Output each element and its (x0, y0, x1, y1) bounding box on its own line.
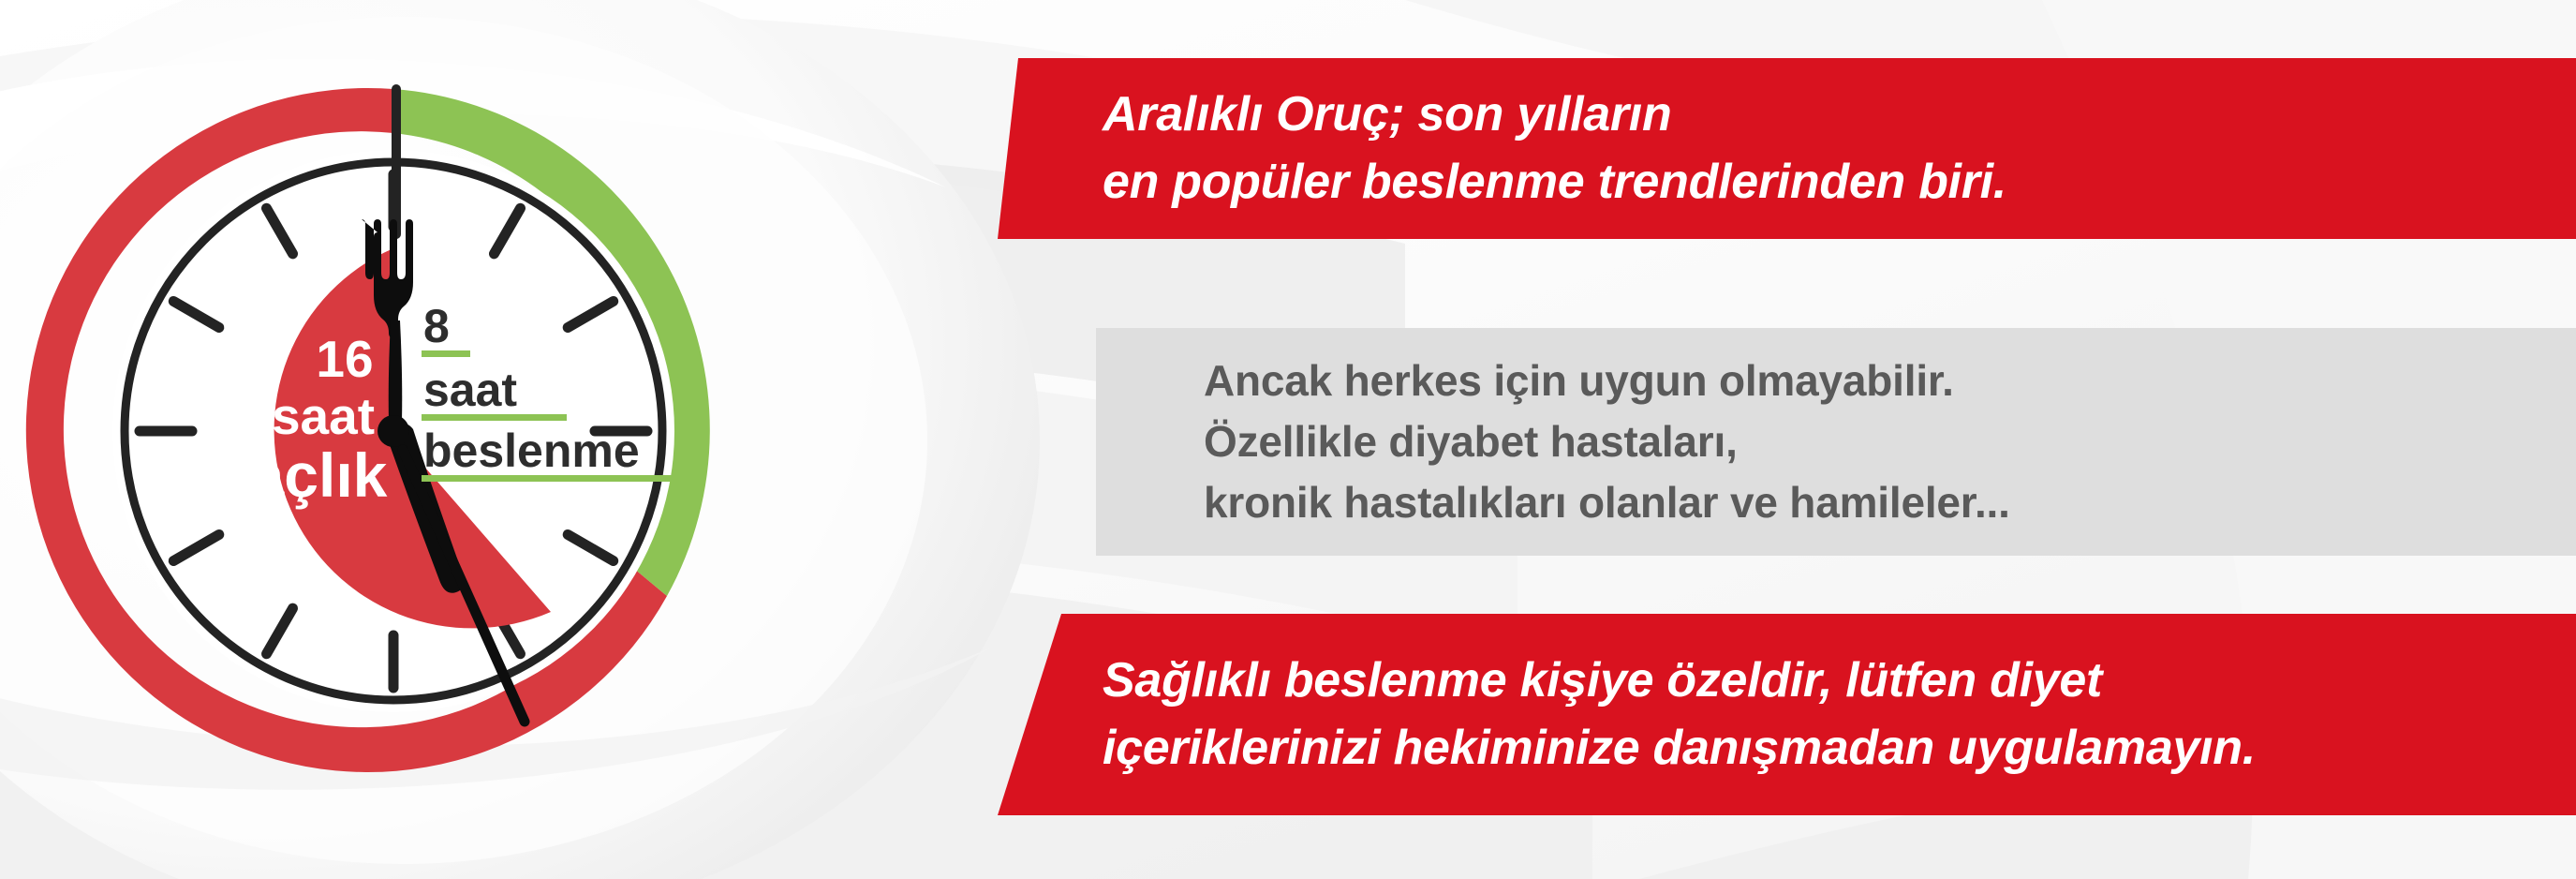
caution-banner: Ancak herkes için uygun olmayabilir. Öze… (1096, 328, 2576, 556)
headline-line-2: en popüler beslenme trendlerinden biri. (1103, 149, 2006, 216)
headline-line-1: Aralıklı Oruç; son yılların (1103, 82, 2006, 149)
fasting-hours: 16 (316, 330, 373, 388)
message-panel: Aralıklı Oruç; son yılların en popüler b… (998, 0, 2576, 879)
headline-banner-text: Aralıklı Oruç; son yılların en popüler b… (998, 82, 2006, 216)
eating-unit-underline (422, 414, 567, 421)
clock-svg: 16 saat açlık 8 saat beslenme (0, 0, 937, 879)
infographic-canvas: 16 saat açlık 8 saat beslenme Aralıklı O… (0, 0, 2576, 879)
clock-graphic: 16 saat açlık 8 saat beslenme (0, 0, 937, 879)
caution-line-2: Özellikle diyabet hastaları, (1204, 411, 2010, 472)
eating-hours-underline (422, 350, 470, 357)
headline-banner: Aralıklı Oruç; son yılların en popüler b… (998, 58, 2576, 239)
eating-unit: saat (423, 364, 517, 416)
fasting-word: açlık (250, 440, 388, 510)
caution-line-3: kronik hastalıkları olanlar ve hamileler… (1204, 472, 2010, 533)
eating-word: beslenme (423, 425, 640, 477)
advice-line-1: Sağlıklı beslenme kişiye özeldir, lütfen… (1103, 648, 2256, 715)
caution-line-1: Ancak herkes için uygun olmayabilir. (1204, 350, 2010, 411)
fasting-unit: saat (272, 387, 375, 445)
advice-banner: Sağlıklı beslenme kişiye özeldir, lütfen… (998, 614, 2576, 815)
eating-word-underline (422, 475, 686, 482)
eating-hours: 8 (423, 300, 450, 352)
advice-banner-text: Sağlıklı beslenme kişiye özeldir, lütfen… (998, 648, 2256, 782)
advice-line-2: içeriklerinizi hekiminize danışmadan uyg… (1103, 715, 2256, 782)
caution-banner-text: Ancak herkes için uygun olmayabilir. Öze… (1096, 350, 2010, 534)
